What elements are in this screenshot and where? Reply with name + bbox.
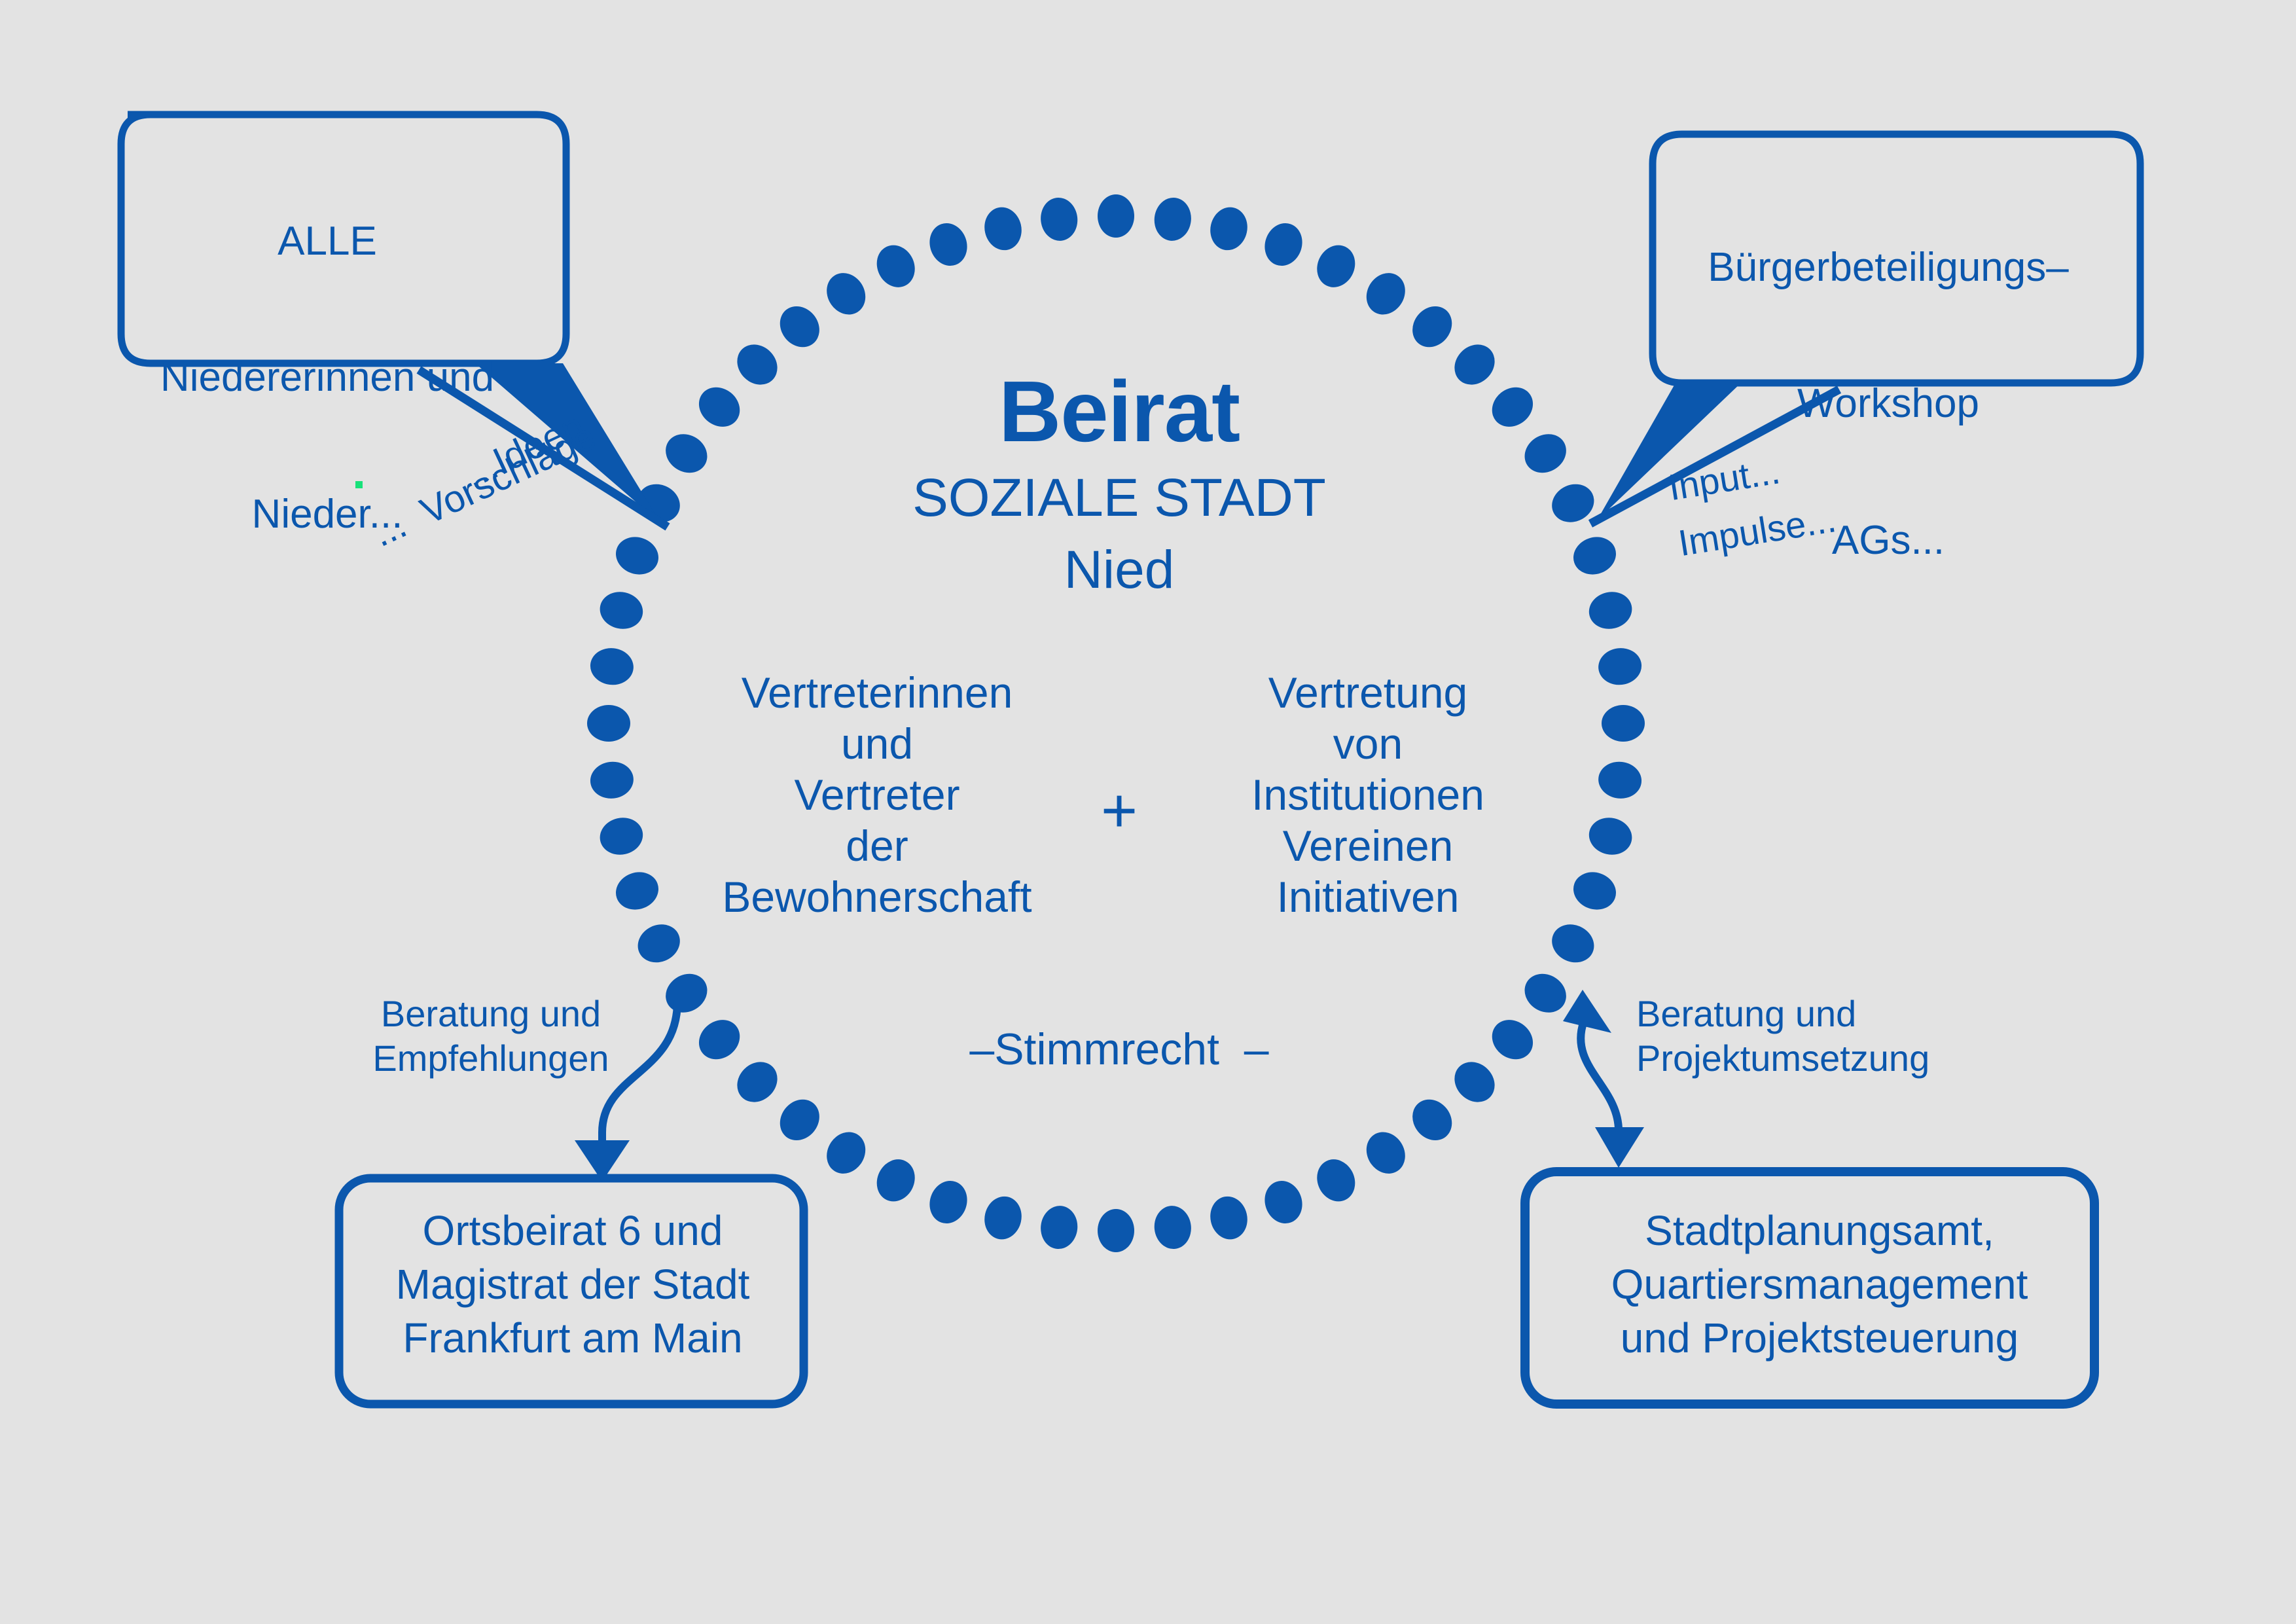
circle-plus-operator: + (1060, 776, 1178, 846)
circle-dot (870, 239, 922, 294)
circle-dot (1098, 194, 1134, 238)
bubble-left-line-1: ALLE (98, 219, 556, 264)
circle-dot (1259, 1176, 1308, 1229)
box-left-label: Ortsbeirat 6 und Magistrat der Stadt Fra… (334, 1204, 812, 1365)
circle-dot (924, 218, 973, 271)
circle-dot (1098, 1209, 1134, 1252)
circle-dot (1206, 1193, 1251, 1243)
circle-dot (658, 426, 715, 480)
circle-dot (691, 379, 748, 435)
circle-dot (1152, 1204, 1193, 1251)
circle-title: Beirat (805, 363, 1433, 460)
circle-dot (729, 336, 785, 393)
circle-dot (1359, 1125, 1413, 1181)
circle-dot (980, 1193, 1026, 1243)
circle-dot (1602, 705, 1645, 742)
circle-dot (1596, 759, 1643, 801)
circle-dot (1517, 966, 1573, 1020)
bubble-right-label: Bürgerbeteiligungs– Workshop AGs... (1659, 154, 2117, 654)
circle-dot (819, 266, 873, 322)
circle-dot (596, 814, 647, 859)
circle-dot (691, 1012, 748, 1068)
circle-column-right: Vertretung von Institutionen Vereinen In… (1172, 668, 1564, 922)
circle-dot (819, 1125, 873, 1181)
circle-dot (1310, 1153, 1362, 1208)
circle-dot (1568, 867, 1621, 916)
circle-dot (729, 1054, 785, 1110)
diagram-canvas: ALLE Niedererinnen und Nieder... Bürgerb… (0, 0, 2296, 1624)
circle-dot (1206, 204, 1251, 254)
circle-dot (772, 298, 827, 355)
circle-dot (1405, 1092, 1460, 1149)
circle-dot (1152, 196, 1193, 243)
circle-dot (588, 646, 636, 687)
circle-dot (980, 204, 1026, 254)
circle-dot (1545, 918, 1600, 969)
circle-dot (870, 1153, 922, 1208)
circle-dot (1446, 336, 1503, 393)
circle-dot (587, 705, 630, 742)
circle-dot (596, 588, 647, 633)
arrow-right-head-up (1563, 990, 1611, 1033)
circle-column-left: Vertreterinnen und Vertreter der Bewohne… (681, 668, 1073, 922)
bubble-right-line-1: Bürgerbeteiligungs– (1659, 245, 2117, 290)
circle-dot (1405, 298, 1460, 355)
box-right-label: Stadtplanungsamt, Quartiersmanagement un… (1532, 1204, 2108, 1365)
circle-dot (1039, 196, 1080, 243)
circle-dot (588, 759, 636, 801)
circle-subtitle-2: Nied (805, 540, 1433, 600)
circle-dot (772, 1092, 827, 1149)
circle-subtitle-1: SOZIALE STADT (805, 468, 1433, 528)
circle-dot (611, 867, 664, 916)
circle-dot (1484, 379, 1541, 435)
arrow-right-double (1563, 990, 1644, 1168)
circle-dot (1359, 266, 1413, 322)
circle-dot (924, 1176, 973, 1229)
circle-dot (1596, 646, 1643, 687)
circle-footnote: –Stimmrecht – (857, 1024, 1381, 1074)
circle-dot (611, 532, 664, 581)
label-right-arrow: Beratung und Projektumsetzung (1636, 992, 1977, 1081)
circle-dot (1585, 588, 1636, 633)
arrow-right-head-down (1595, 1127, 1644, 1168)
bubble-left-label: ALLE Niedererinnen und Nieder... (98, 128, 556, 628)
label-left-arrow: Beratung und Empfehlungen (347, 992, 635, 1081)
circle-dot (1310, 239, 1362, 294)
bubble-left-line-2: Niedererinnen und (98, 355, 556, 400)
circle-dot (632, 918, 687, 969)
circle-dot (1585, 814, 1636, 859)
circle-dot (1039, 1204, 1080, 1251)
circle-dot (1517, 426, 1573, 480)
circle-dot (1259, 218, 1308, 271)
circle-dot (1446, 1054, 1503, 1110)
circle-dot (1568, 532, 1621, 581)
circle-dot (1484, 1012, 1541, 1068)
circle-dot (658, 966, 715, 1020)
bubble-right-line-2: Workshop (1659, 381, 2117, 426)
